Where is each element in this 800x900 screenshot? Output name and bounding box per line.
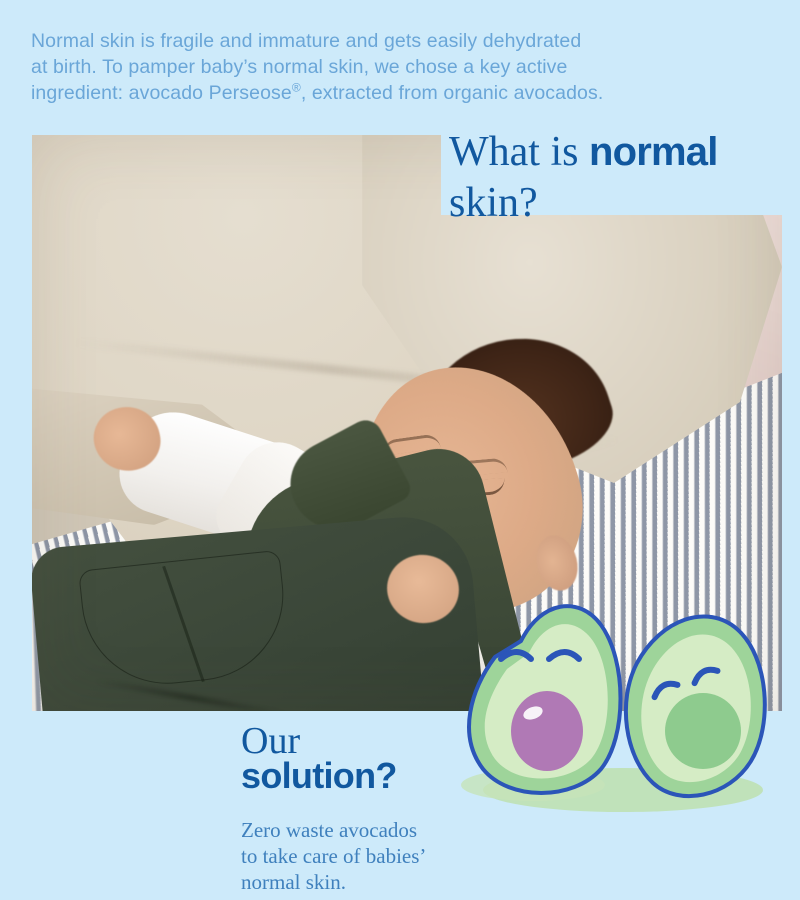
avocado-illustration: [455, 585, 775, 825]
intro-line-3: ingredient: avocado Perseose®, extracted…: [31, 80, 731, 106]
section-title-solution: Our solution?: [241, 722, 501, 795]
page-title-line2: skin?: [449, 180, 538, 226]
intro-line-1: Normal skin is fragile and immature and …: [31, 28, 731, 54]
avocado-right-pit: [665, 693, 741, 769]
section-title-bold: solution?: [241, 757, 501, 795]
solution-line-2: to take care of babies’: [241, 843, 511, 869]
solution-description: Zero waste avocados to take care of babi…: [241, 817, 511, 895]
intro-line-2: at birth. To pamper baby’s normal skin, …: [31, 54, 731, 80]
avocado-right: [626, 616, 765, 796]
page-title: What is normal skin?: [449, 131, 800, 233]
page-title-bold: normal: [589, 130, 718, 174]
solution-line-1: Zero waste avocados: [241, 817, 511, 843]
avocado-left-pit: [511, 691, 583, 771]
registered-trademark-symbol: ®: [292, 81, 301, 95]
page-title-regular: What is: [449, 129, 589, 175]
promo-page: Normal skin is fragile and immature and …: [0, 0, 800, 900]
solution-line-3: normal skin.: [241, 869, 511, 895]
intro-paragraph: Normal skin is fragile and immature and …: [31, 28, 731, 106]
intro-line-3-before: ingredient: avocado Perseose: [31, 82, 292, 104]
intro-line-3-after: , extracted from organic avocados.: [301, 82, 604, 104]
